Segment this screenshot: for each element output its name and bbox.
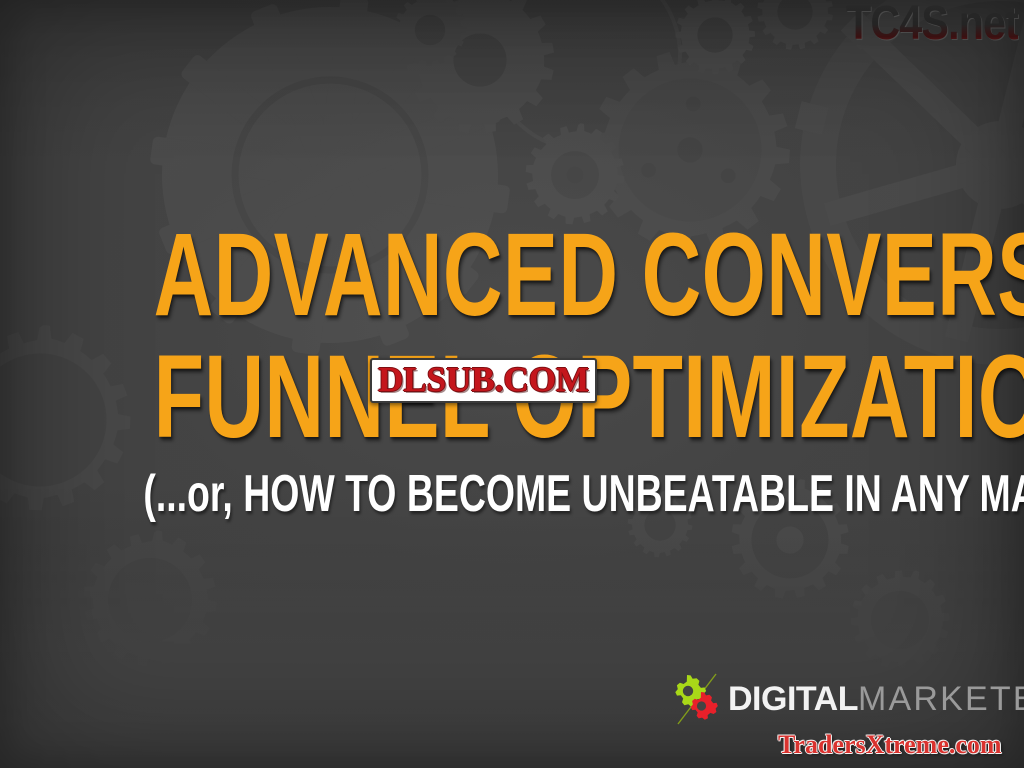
tc4s-watermark: TC4S.net	[846, 0, 1018, 51]
tradersxtreme-watermark: TradersXtreme.com	[778, 732, 1002, 758]
presentation-slide: ADVANCED CONVERSION FUNNEL OPTIMIZATION …	[0, 0, 1024, 768]
digitalmarketer-logo: DIGITALMARKETER	[666, 672, 1024, 726]
digitalmarketer-wordmark: DIGITALMARKETER	[728, 682, 1024, 716]
slide-subtitle: (...or, HOW TO BECOME UNBEATABLE IN ANY …	[143, 468, 880, 520]
digitalmarketer-name-light: MARKETER	[858, 680, 1024, 718]
headline-line-1: ADVANCED CONVERSION	[154, 218, 871, 334]
digitalmarketer-gears-icon	[666, 673, 726, 725]
slide-headline: ADVANCED CONVERSION FUNNEL OPTIMIZATION	[0, 218, 1024, 455]
digitalmarketer-name-bold: DIGITAL	[728, 680, 858, 718]
dlsub-watermark-label: DLSUB.COM	[378, 362, 589, 397]
dlsub-watermark: DLSUB.COM	[370, 358, 597, 403]
